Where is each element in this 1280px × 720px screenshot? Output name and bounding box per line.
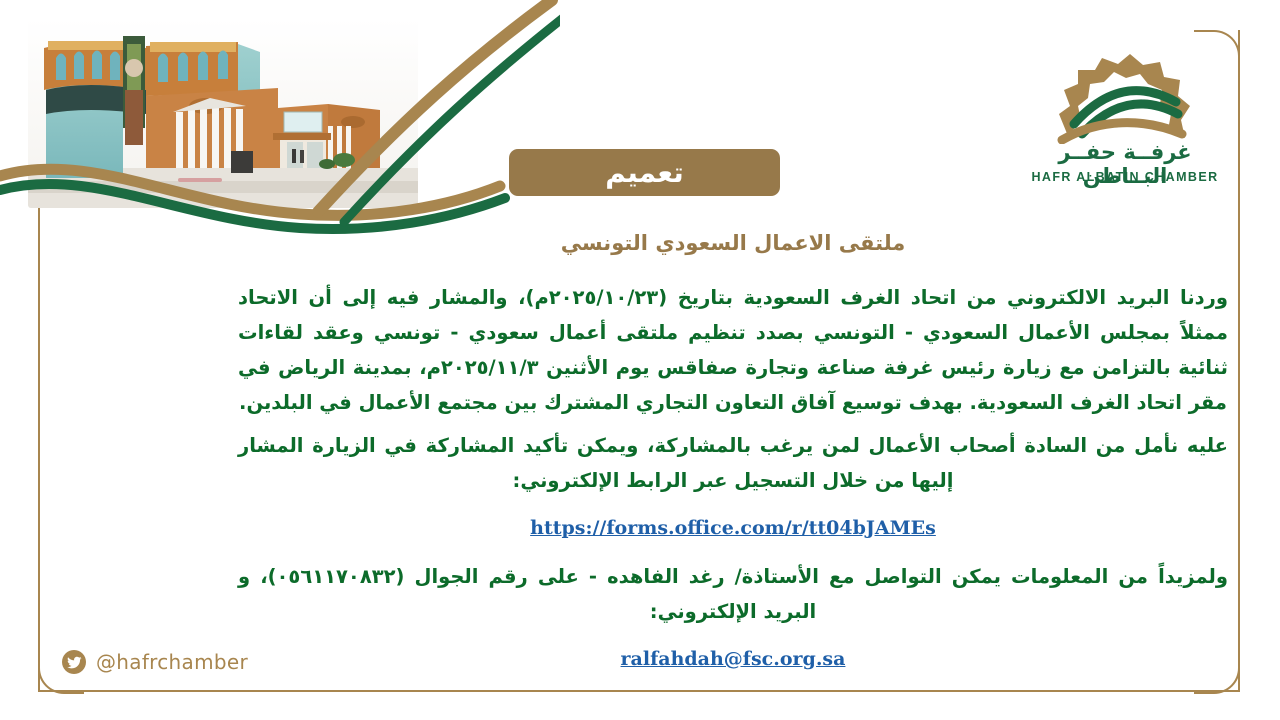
notice-paragraph-3: ولمزيداً من المعلومات يمكن التواصل مع ال…: [238, 559, 1228, 629]
notice-body: ملتقى الاعمال السعودي التونسي وردنا البر…: [238, 226, 1228, 670]
chamber-logo-mark: [1048, 48, 1198, 144]
notice-headline: ملتقى الاعمال السعودي التونسي: [238, 226, 1228, 260]
frame-border-bottom: [38, 690, 1240, 692]
twitter-bird-icon[interactable]: [62, 650, 86, 674]
circular-notice-page: غرفــة حفــر البــاطن HAFR ALBATIN CHAMB…: [0, 0, 1280, 720]
circular-title-badge: تعميم: [509, 149, 780, 196]
registration-form-link[interactable]: https://forms.office.com/r/tt04bJAMEs: [238, 517, 1228, 539]
chamber-logo: غرفــة حفــر البــاطن HAFR ALBATIN CHAMB…: [1030, 48, 1220, 198]
contact-email-link[interactable]: ralfahdah@fsc.org.sa: [238, 648, 1228, 670]
chamber-logo-english-name: HAFR ALBATIN CHAMBER: [1030, 170, 1220, 184]
notice-paragraph-2: عليه نأمل من السادة أصحاب الأعمال لمن ير…: [238, 428, 1228, 498]
twitter-handle-text[interactable]: @hafrchamber: [96, 650, 248, 674]
header-artwork: [0, 0, 560, 240]
social-handle[interactable]: @hafrchamber: [62, 648, 248, 676]
circular-title-text: تعميم: [605, 156, 683, 189]
ribbon-swoosh-decoration: [0, 0, 560, 240]
frame-border-right: [1238, 30, 1240, 692]
notice-paragraph-1: وردنا البريد الالكتروني من اتحاد الغرف ا…: [238, 280, 1228, 420]
